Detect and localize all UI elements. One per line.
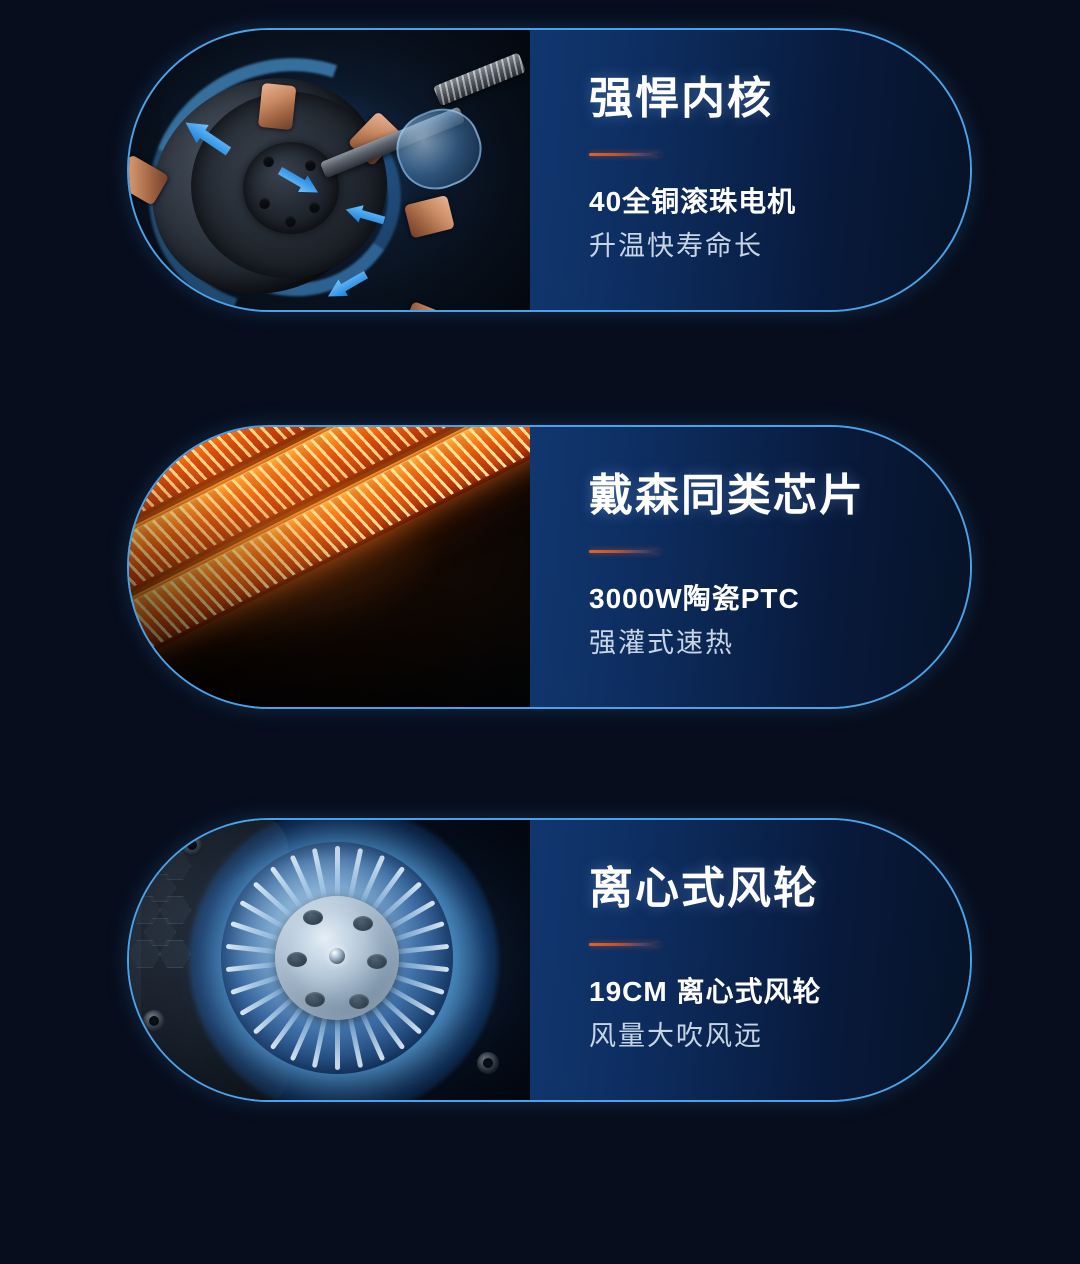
- fan-blade: [390, 944, 448, 955]
- hub-dimple: [349, 994, 369, 1009]
- hub-dimple: [367, 954, 387, 969]
- card-title: 强悍内核: [589, 75, 796, 123]
- motor-text-panel: 强悍内核 40全铜滚珠电机 升温快寿命长: [530, 30, 970, 310]
- hub-hole: [309, 202, 320, 213]
- copper-coil-segment: [404, 195, 455, 239]
- card-subtitle-secondary: 风量大吹风远: [589, 1018, 821, 1054]
- card-subtitle-secondary: 强灌式速热: [589, 625, 865, 661]
- housing-screw: [477, 1052, 499, 1074]
- card-subtitle-secondary: 升温快寿命长: [589, 228, 796, 264]
- hub-dimple: [305, 992, 325, 1007]
- card-title: 离心式风轮: [589, 865, 821, 913]
- feature-card-fan[interactable]: 离心式风轮 19CM 离心式风轮 风量大吹风远: [127, 818, 972, 1102]
- hub-hole: [305, 160, 316, 171]
- centrifugal-fan-wheel-image: [129, 820, 530, 1100]
- ptc-text-panel: 戴森同类芯片 3000W陶瓷PTC 强灌式速热: [530, 427, 970, 707]
- hub-dimple: [287, 952, 307, 967]
- copper-coil-segment: [129, 273, 142, 310]
- hub-dimple: [353, 916, 373, 931]
- card-title: 戴森同类芯片: [589, 472, 865, 520]
- motor-rotor-image: [129, 30, 530, 310]
- hub-center-bolt: [329, 948, 345, 964]
- ptc-heating-element-image: [129, 427, 530, 707]
- copper-coil-segment: [401, 301, 455, 310]
- housing-screw: [181, 834, 203, 856]
- card-subtitle-primary: 40全铜滚珠电机: [589, 183, 796, 221]
- rotor-hub: [243, 142, 339, 234]
- card-subtitle-primary: 3000W陶瓷PTC: [589, 580, 865, 618]
- hub-hole: [285, 216, 296, 227]
- hub-hole: [263, 156, 274, 167]
- fan-blade: [335, 1012, 340, 1070]
- feature-cards-page: 强悍内核 40全铜滚珠电机 升温快寿命长 戴森同类芯片 3000W陶瓷PTC 强…: [0, 0, 1080, 1264]
- fan-text-panel: 离心式风轮 19CM 离心式风轮 风量大吹风远: [530, 820, 970, 1100]
- feature-card-ptc[interactable]: 戴森同类芯片 3000W陶瓷PTC 强灌式速热: [127, 425, 972, 709]
- feature-card-motor[interactable]: 强悍内核 40全铜滚珠电机 升温快寿命长: [127, 28, 972, 312]
- fan-wheel: [221, 842, 453, 1074]
- accent-divider: [589, 153, 661, 156]
- accent-divider: [589, 550, 661, 553]
- copper-coil-segment: [258, 83, 296, 130]
- accent-divider: [589, 943, 661, 946]
- card-subtitle-primary: 19CM 离心式风轮: [589, 973, 821, 1011]
- hub-hole: [259, 198, 270, 209]
- fan-hub: [275, 896, 399, 1020]
- housing-screw: [143, 1010, 165, 1032]
- hub-dimple: [303, 910, 323, 925]
- fan-blade: [390, 961, 448, 972]
